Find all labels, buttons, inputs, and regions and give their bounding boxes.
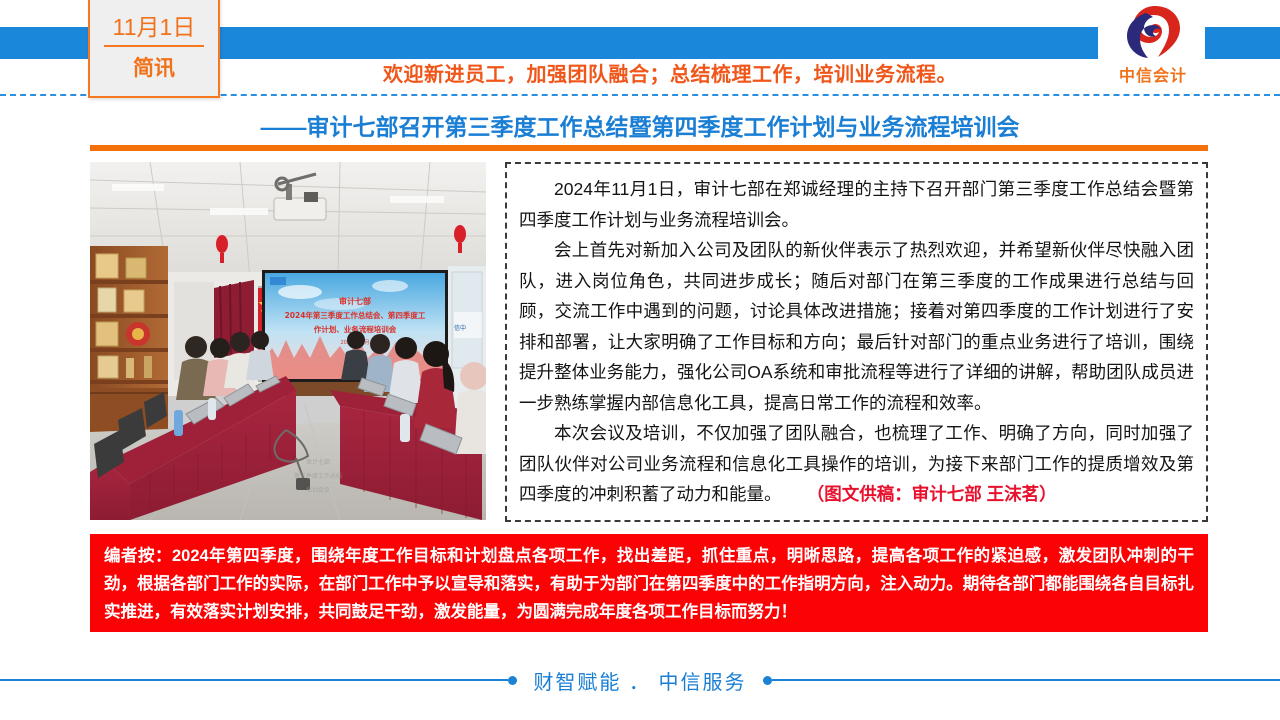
svg-text:审计七部: 审计七部: [339, 296, 371, 306]
footer-dot-left-icon: [508, 676, 517, 685]
article-paragraph-3: 本次会议及培训，不仅加强了团队融合，也梳理了工作、明确了方向，同时加强了团队伙伴…: [519, 418, 1194, 510]
svg-text:第三季度工作总结: 第三季度工作总结: [294, 472, 342, 480]
article-paragraph-2: 会上首先对新加入公司及团队的新伙伴表示了热烈欢迎，并希望新伙伴尽快融入团队，进入…: [519, 235, 1194, 418]
svg-text:审计七部: 审计七部: [306, 458, 330, 466]
logo-text: 中信会计: [1098, 62, 1208, 86]
header-band-middle: [218, 27, 1098, 59]
header-band-left: [0, 27, 90, 59]
footer-line-right: [772, 679, 1280, 681]
date-tab: 11月1日 简讯: [88, 0, 220, 98]
footer-dot-right-icon: [763, 676, 772, 685]
article-body: 2024年11月1日，审计七部在郑诚经理的主持下召开部门第三季度工作总结会暨第四…: [505, 162, 1208, 522]
article-credit: （图文供稿：审计七部 王沫茗）: [816, 484, 1057, 504]
page-footer: 财智赋能 ． 中信服务: [0, 660, 1280, 700]
date-tab-date: 11月1日: [90, 12, 218, 42]
date-tab-label: 简讯: [90, 55, 218, 83]
article-paragraph-1: 2024年11月1日，审计七部在郑诚经理的主持下召开部门第三季度工作总结会暨第四…: [519, 174, 1194, 235]
editor-note-lead: 编者按：: [104, 547, 172, 565]
page-title: ——审计七部召开第三季度工作总结暨第四季度工作计划与业务流程培训会: [90, 108, 1190, 142]
header-slogan: 欢迎新进员工，加强团队融合；总结梳理工作，培训业务流程。: [240, 58, 1100, 87]
meeting-photo: 审计七部 2024年第三季度工作总结会、第四季度工 作计划、业务流程培训会 20…: [90, 162, 486, 520]
citic-swirl-icon: [1122, 4, 1184, 60]
title-orange-divider: [90, 145, 1208, 151]
footer-slogan: 财智赋能 ． 中信服务: [517, 666, 762, 695]
editor-note-body: 2024年第四季度，围绕年度工作目标和计划盘点各项工作，找出差距，抓住重点，明晰…: [104, 547, 1194, 621]
svg-text:信中: 信中: [454, 324, 466, 332]
svg-text:培训会议: 培训会议: [306, 486, 330, 494]
svg-text:2024年第三季度工作总结会、第四季度工: 2024年第三季度工作总结会、第四季度工: [285, 310, 426, 320]
date-tab-divider: [104, 45, 204, 47]
editor-note-box: 编者按：2024年第四季度，围绕年度工作目标和计划盘点各项工作，找出差距，抓住重…: [90, 534, 1208, 632]
header-band-right: [1205, 27, 1280, 59]
brand-logo: 中信会计: [1098, 4, 1208, 88]
footer-line-left: [0, 679, 508, 681]
